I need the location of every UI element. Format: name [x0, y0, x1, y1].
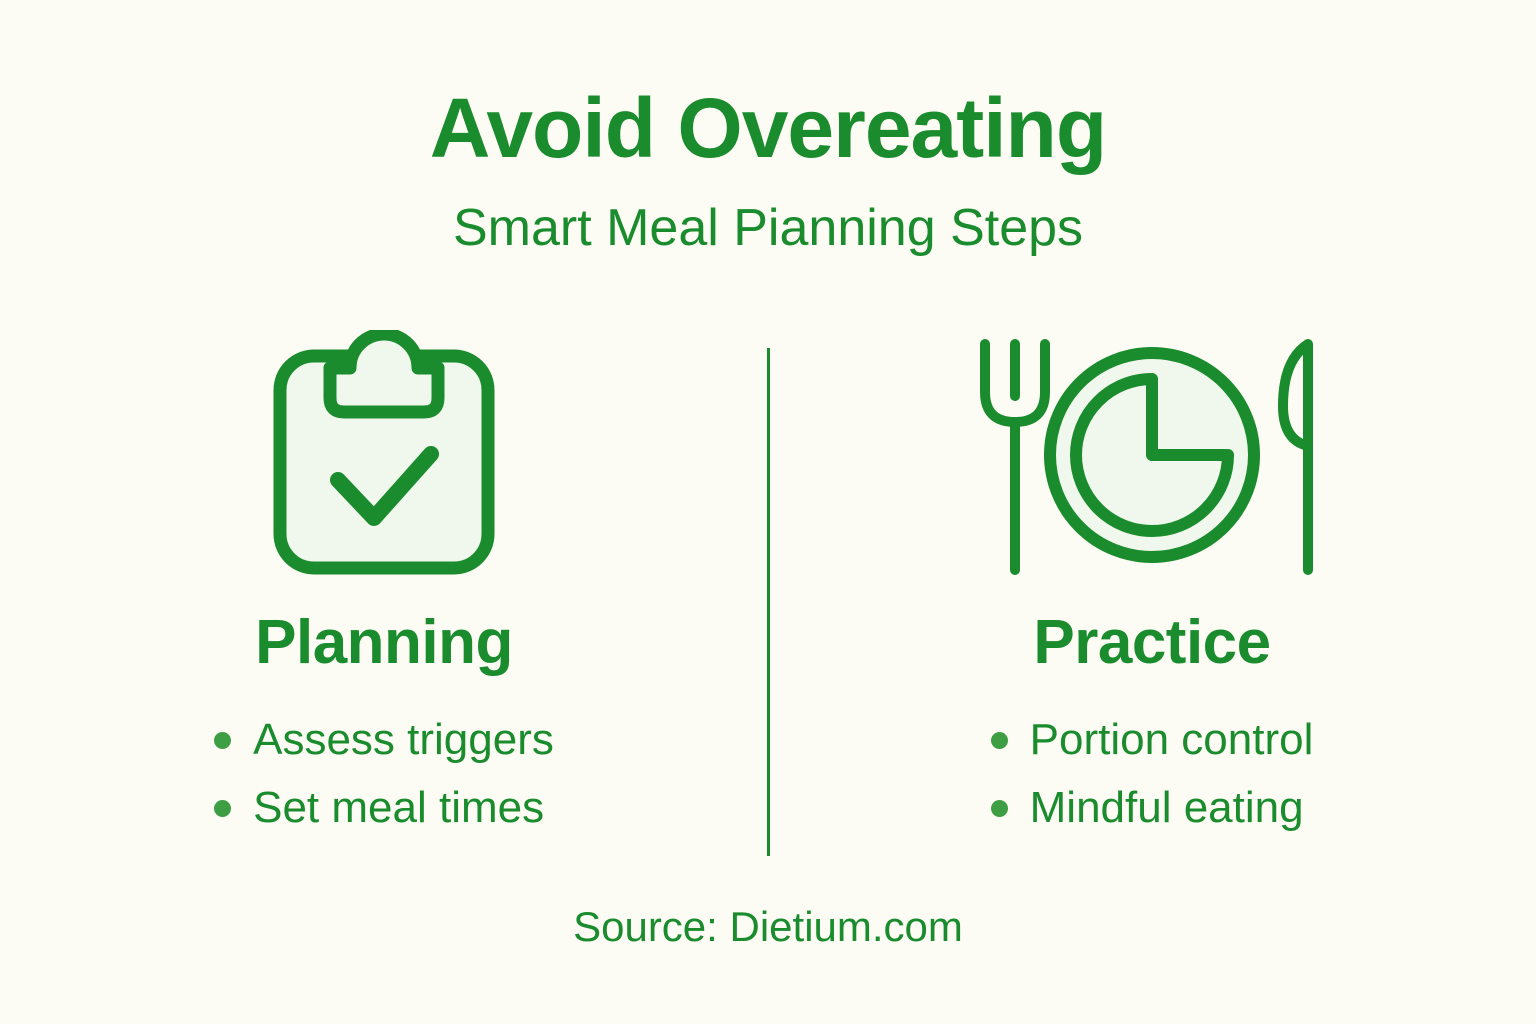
list-item: Set meal times [214, 786, 554, 854]
columns-container: Planning Assess triggers Set meal times [0, 330, 1536, 870]
column-planning: Planning Assess triggers Set meal times [0, 330, 768, 870]
source-attribution: Source: Dietium.com [0, 906, 1536, 948]
list-item: Assess triggers [214, 718, 554, 786]
infographic-canvas: Avoid Overeating Smart Meal Pianning Ste… [0, 0, 1536, 1024]
bullet-dot-icon [991, 800, 1008, 817]
bullet-dot-icon [991, 732, 1008, 749]
bullet-dot-icon [214, 800, 231, 817]
bullet-list-planning: Assess triggers Set meal times [214, 674, 554, 854]
column-practice: Practice Portion control Mindful eating [768, 330, 1536, 870]
clipboard-check-icon-wrap [268, 330, 500, 580]
bullet-list-practice: Portion control Mindful eating [991, 674, 1314, 854]
bullet-label: Set meal times [253, 786, 544, 830]
plate-cutlery-portion-icon-wrap [967, 330, 1337, 580]
bullet-dot-icon [214, 732, 231, 749]
page-subtitle: Smart Meal Pianning Steps [0, 170, 1536, 254]
bullet-label: Mindful eating [1030, 786, 1304, 830]
bullet-label: Assess triggers [253, 718, 554, 762]
column-heading-practice: Practice [1033, 580, 1270, 674]
fork-icon [985, 344, 1045, 570]
knife-icon [1283, 344, 1308, 570]
column-heading-planning: Planning [255, 580, 513, 674]
page-title: Avoid Overeating [0, 86, 1536, 170]
list-item: Portion control [991, 718, 1314, 786]
header: Avoid Overeating Smart Meal Pianning Ste… [0, 86, 1536, 254]
list-item: Mindful eating [991, 786, 1314, 854]
clipboard-check-icon [268, 330, 500, 580]
bullet-label: Portion control [1030, 718, 1314, 762]
plate-cutlery-portion-icon [967, 330, 1337, 580]
